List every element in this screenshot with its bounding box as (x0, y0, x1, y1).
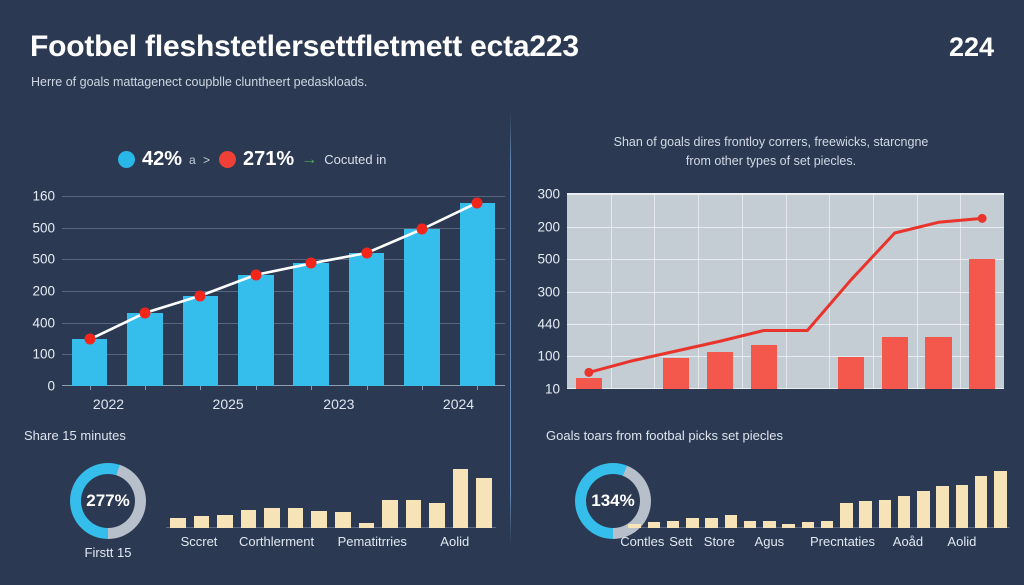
bar (288, 508, 304, 528)
y-axis-tick: 500 (32, 220, 55, 235)
bar (460, 203, 495, 386)
x-axis-tick: Precntaties (810, 534, 875, 549)
vertical-divider (510, 112, 511, 544)
data-point-marker (472, 197, 483, 208)
x-axis-tick: 2023 (323, 396, 354, 412)
y-axis-tick: 0 (47, 379, 55, 394)
donut-value: 277% (70, 463, 146, 539)
bar (264, 508, 280, 528)
x-axis-tick: Corthlerment (239, 534, 314, 549)
legend-blue-value: 42% (142, 148, 182, 171)
data-point-marker (978, 214, 987, 223)
data-point-marker (584, 368, 593, 377)
data-point-marker (306, 258, 317, 269)
bar (782, 524, 795, 529)
x-axis-tick: Pematitrries (338, 534, 407, 549)
legend-red-dot-icon (219, 151, 236, 168)
data-point-marker (250, 269, 261, 280)
bar (725, 515, 738, 528)
x-axis-tickmark (90, 386, 91, 390)
data-point-marker (140, 307, 151, 318)
x-axis-tick: Sett (669, 534, 692, 549)
bar (311, 511, 327, 528)
legend-blue-dot-icon (118, 151, 135, 168)
x-axis-tick: 2024 (443, 396, 474, 412)
legend-red-value: 271% (243, 148, 294, 171)
bar (382, 500, 398, 528)
x-axis-tick: Aolid (440, 534, 469, 549)
bar (882, 337, 908, 389)
right-setpieces-chart: 30020050030044010010 (567, 193, 1004, 389)
bar (879, 500, 892, 528)
data-point-marker (361, 248, 372, 259)
arrow-right-icon: → (301, 151, 317, 169)
bar (917, 491, 930, 529)
x-axis-tick: Aolid (947, 534, 976, 549)
x-axis-tick: Sccret (181, 534, 218, 549)
bar (994, 471, 1007, 528)
data-point-marker (84, 334, 95, 345)
x-axis-tick: Contles (620, 534, 664, 549)
y-axis-tick: 300 (537, 187, 560, 202)
bar (238, 275, 273, 386)
gridline-vertical (786, 194, 787, 389)
x-axis-tickmark (256, 386, 257, 390)
y-axis-tick: 500 (32, 252, 55, 267)
bottom-left-title: Share 15 minutes (24, 428, 126, 443)
y-axis-tick: 10 (545, 382, 560, 397)
bar (969, 259, 995, 389)
dashboard-header: Footbel fleshstetlersettfletmett ecta223… (0, 0, 1024, 112)
x-axis-tick: 2025 (213, 396, 244, 412)
bottom-left-minibars: SccretCorthlermentPematitrriesAolid (166, 468, 496, 528)
bar (936, 486, 949, 528)
bar (663, 358, 689, 389)
gridline-vertical (829, 194, 830, 389)
bar (821, 521, 834, 528)
legend-separator: a > (189, 153, 212, 167)
bottom-right-title: Goals toars from footbal picks set piecl… (546, 428, 783, 443)
bar (686, 518, 699, 528)
gridline-vertical (654, 194, 655, 389)
y-axis-tick: 100 (537, 349, 560, 364)
y-axis-tick: 100 (32, 347, 55, 362)
bar (925, 337, 951, 389)
page-subtitle: Herre of goals mattagenect coupblle clun… (31, 75, 367, 89)
gridline-vertical (611, 194, 612, 389)
bar (648, 522, 661, 528)
y-axis-tick: 500 (537, 251, 560, 266)
y-axis-tick: 200 (537, 219, 560, 234)
bar (404, 229, 439, 386)
bar (802, 522, 815, 528)
gridline-vertical (698, 194, 699, 389)
bar (406, 500, 422, 529)
y-axis-tick: 440 (537, 317, 560, 332)
gridline (62, 196, 505, 197)
legend: 42% a > 271% → Cocuted in (118, 148, 386, 171)
bar (194, 516, 210, 528)
x-axis-tickmark (311, 386, 312, 390)
right-panel-note: Shan of goals dires frontloy corrers, fr… (612, 133, 930, 172)
page-title: Footbel fleshstetlersettfletmett ecta223 (30, 30, 579, 64)
bar (628, 524, 641, 528)
bar (838, 357, 864, 389)
bar (859, 501, 872, 528)
kpi-badge: 224 (949, 32, 994, 63)
x-axis-tick: Store (704, 534, 735, 549)
bottom-left-donut: 277% Firstt 15 (70, 463, 146, 539)
bar (241, 510, 257, 528)
bar (72, 339, 107, 386)
minibar-baseline (166, 527, 496, 528)
x-axis-tick: Agus (755, 534, 785, 549)
bar (349, 253, 384, 386)
bar (183, 296, 218, 386)
data-point-marker (195, 290, 206, 301)
bar (840, 503, 853, 528)
bar (335, 512, 351, 528)
y-axis-tick: 200 (32, 284, 55, 299)
bar (359, 523, 375, 528)
bar (170, 518, 186, 528)
x-axis-tick: 2022 (93, 396, 124, 412)
x-axis-tickmark (200, 386, 201, 390)
gridline-vertical (917, 194, 918, 389)
minibar-baseline (625, 527, 1010, 528)
bar (217, 515, 233, 528)
data-point-marker (416, 224, 427, 235)
x-axis-tickmark (145, 386, 146, 390)
bar (667, 521, 680, 528)
bar (293, 263, 328, 386)
bar (576, 378, 602, 389)
bar (453, 469, 469, 528)
x-axis-tickmark (477, 386, 478, 390)
bar (476, 478, 492, 528)
bottom-right-minibars: ContlesSettStoreAgusPrecntatiesAoådAolid (625, 468, 1010, 528)
bar (744, 521, 757, 529)
donut-ring: 277% (70, 463, 146, 539)
donut-caption: Firstt 15 (85, 545, 132, 560)
bar (975, 476, 988, 529)
bar (751, 345, 777, 389)
gridline-vertical (873, 194, 874, 389)
bar (705, 518, 718, 528)
bar (956, 485, 969, 529)
legend-note: Cocuted in (324, 152, 386, 167)
x-axis-tickmark (422, 386, 423, 390)
y-axis-tick: 300 (537, 284, 560, 299)
dashboard-page: Footbel fleshstetlersettfletmett ecta223… (0, 0, 1024, 585)
bar (707, 352, 733, 389)
x-axis-tickmark (367, 386, 368, 390)
gridline-vertical (960, 194, 961, 389)
bar (763, 521, 776, 528)
bar (127, 313, 162, 386)
bar (429, 503, 445, 528)
y-axis-tick: 400 (32, 315, 55, 330)
y-axis-tick: 160 (32, 189, 55, 204)
left-trend-chart: 16050050020040010002022202520232024 (62, 196, 505, 386)
x-axis-tick: Aoåd (893, 534, 923, 549)
gridline-vertical (742, 194, 743, 389)
bar (898, 496, 911, 528)
